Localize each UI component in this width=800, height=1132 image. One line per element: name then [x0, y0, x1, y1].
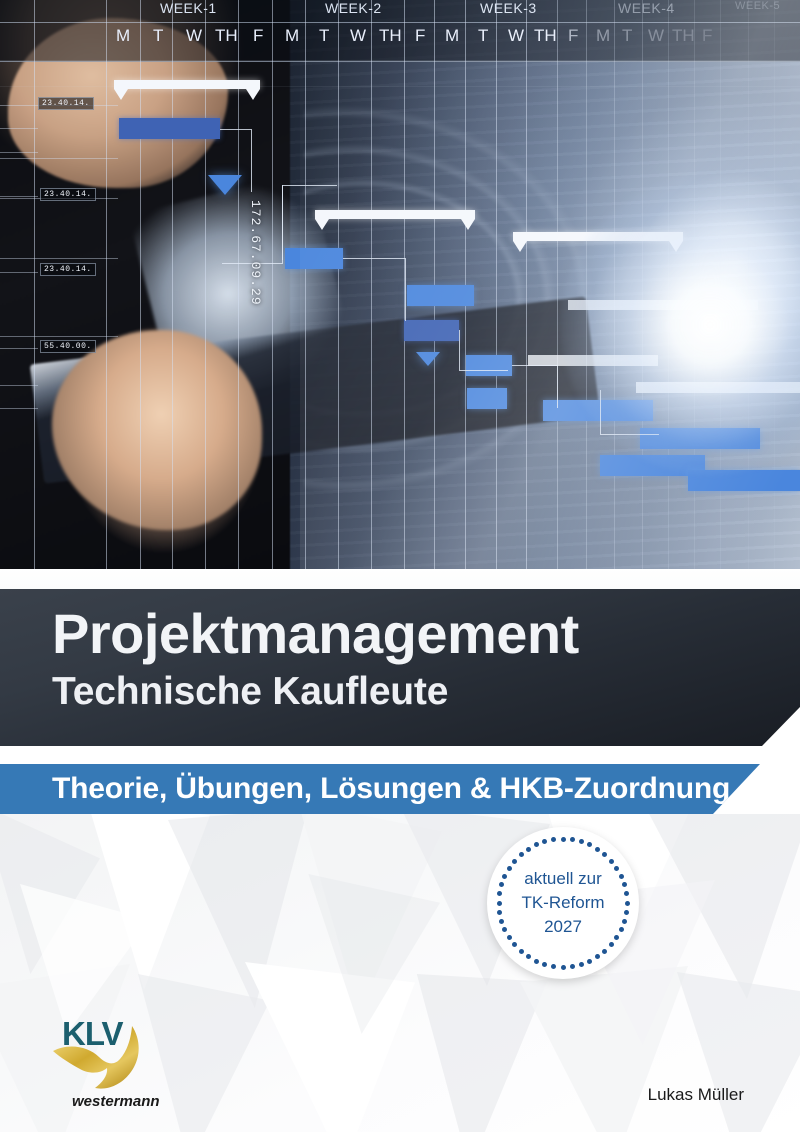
gantt-day-label: T — [153, 26, 163, 46]
gantt-connector — [343, 258, 406, 321]
gantt-day-label: TH — [379, 26, 402, 46]
gantt-connector — [282, 185, 337, 260]
gantt-day-label: W — [186, 26, 202, 46]
gantt-day-label: M — [445, 26, 459, 46]
book-subtitle: Technische Kaufleute — [52, 671, 448, 714]
seal-dot — [551, 837, 556, 842]
seal-dot — [570, 964, 575, 969]
gantt-day-label: M — [596, 26, 610, 46]
gantt-day-label: W — [508, 26, 524, 46]
subtitle-banner: Theorie, Übungen, Lösungen & HKB-Zuordnu… — [0, 764, 760, 814]
gantt-day-label: M — [285, 26, 299, 46]
gantt-week-label: WEEK-2 — [325, 0, 382, 16]
seal-dot — [519, 949, 524, 954]
seal-dot — [587, 959, 592, 964]
book-cover: WEEK-1 WEEK-2 WEEK-3 WEEK-4 WEEK-5 M T W… — [0, 0, 800, 1132]
banner-text: Theorie, Übungen, Lösungen & HKB-Zuordnu… — [52, 772, 730, 806]
gantt-week-label: WEEK-3 — [480, 0, 537, 16]
gantt-day-label: T — [622, 26, 632, 46]
seal-dot — [534, 959, 539, 964]
gantt-summary-bar — [114, 80, 260, 89]
seal-dot — [512, 859, 517, 864]
seal-dot — [570, 837, 575, 842]
gantt-day-label: W — [350, 26, 366, 46]
author-name: Lukas Müller — [648, 1085, 744, 1105]
gantt-day-label: F — [253, 26, 263, 46]
gantt-task-bar — [404, 320, 459, 341]
status-badge-seal: aktuell zur TK-Reform 2027 — [487, 827, 639, 979]
hero-light-glow — [560, 175, 800, 475]
gantt-task-bar — [467, 388, 507, 409]
publisher-logo: KLV westermann — [48, 1012, 178, 1112]
gantt-task-code: 23.40.14. — [40, 188, 96, 201]
gantt-day-label: TH — [672, 26, 695, 46]
seal-dot — [609, 942, 614, 947]
title-band: Projektmanagement Technische Kaufleute — [0, 589, 800, 746]
gantt-task-bar — [119, 118, 220, 139]
gantt-day-label: TH — [215, 26, 238, 46]
seal-dot — [602, 852, 607, 857]
seal-dot — [542, 839, 547, 844]
seal-dot — [595, 954, 600, 959]
logo-klv-wordmark: KLV — [62, 1015, 124, 1052]
seal-dot — [579, 839, 584, 844]
seal-dot — [595, 847, 600, 852]
seal-dot — [512, 942, 517, 947]
seal-dot — [534, 842, 539, 847]
gantt-day-label: F — [415, 26, 425, 46]
gantt-connector — [512, 365, 558, 408]
gantt-week-label: WEEK-4 — [618, 0, 675, 16]
gantt-summary-bar — [315, 210, 475, 219]
gantt-task-code: 55.40.00. — [40, 340, 96, 353]
gantt-milestone — [416, 352, 440, 366]
seal-line-1: aktuell zur — [487, 867, 639, 891]
logo-westermann-wordmark: westermann — [72, 1093, 160, 1110]
gantt-day-label: T — [319, 26, 329, 46]
gantt-vertical-code: 172.67.09.29 — [248, 200, 263, 306]
hero-divider-gap — [0, 569, 800, 589]
seal-dot — [579, 962, 584, 967]
seal-line-3: 2027 — [487, 915, 639, 939]
gantt-chart-overlay: WEEK-1 WEEK-2 WEEK-3 WEEK-4 WEEK-5 M T W… — [0, 0, 800, 569]
gantt-task-bar — [407, 285, 474, 306]
book-title: Projektmanagement — [52, 605, 579, 664]
gantt-day-label: W — [648, 26, 664, 46]
gantt-week-label: WEEK-1 — [160, 0, 217, 16]
seal-text: aktuell zur TK-Reform 2027 — [487, 867, 639, 939]
seal-dot — [609, 859, 614, 864]
seal-dot — [542, 962, 547, 967]
seal-dot — [602, 949, 607, 954]
seal-dot — [526, 847, 531, 852]
gantt-day-label: T — [478, 26, 488, 46]
gantt-day-label: M — [116, 26, 130, 46]
seal-dot — [587, 842, 592, 847]
seal-line-2: TK-Reform — [487, 891, 639, 915]
seal-dot — [519, 852, 524, 857]
seal-dot — [561, 837, 566, 842]
gantt-connector — [459, 330, 508, 371]
gantt-task-code: 23.40.14. — [40, 263, 96, 276]
gantt-day-label: TH — [534, 26, 557, 46]
gantt-day-label: F — [702, 26, 712, 46]
seal-dot — [526, 954, 531, 959]
seal-dot — [551, 964, 556, 969]
hero-image: WEEK-1 WEEK-2 WEEK-3 WEEK-4 WEEK-5 M T W… — [0, 0, 800, 569]
seal-dot — [561, 965, 566, 970]
gantt-week-header-band — [0, 0, 800, 22]
klv-westermann-logo-icon: KLV westermann — [48, 1012, 178, 1112]
gantt-day-label: F — [568, 26, 578, 46]
gantt-connector — [220, 129, 252, 192]
gantt-task-code: 23.40.14. — [38, 97, 94, 110]
